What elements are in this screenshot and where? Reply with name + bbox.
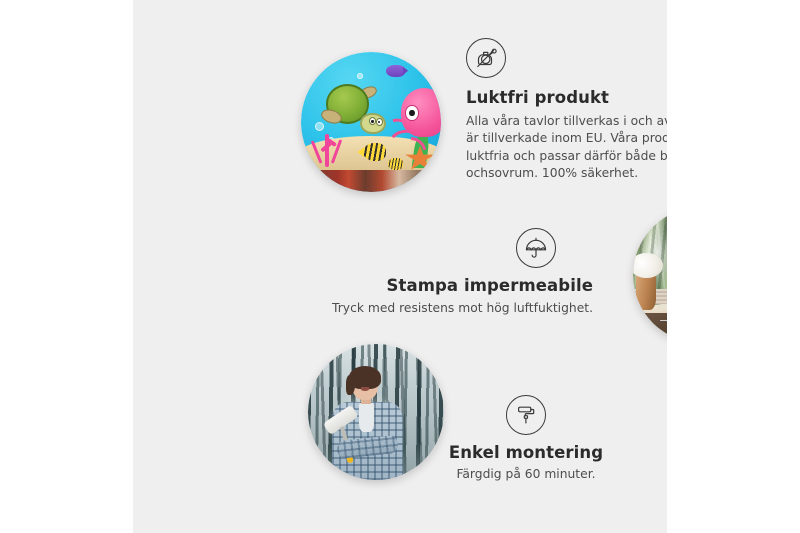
woman-figure [327, 368, 411, 480]
flowers-icon [633, 253, 663, 277]
octopus-icon [388, 88, 441, 155]
page-root: Luktfri produkt Alla våra tavlor tillver… [0, 0, 800, 533]
feature-description: Alla våra tavlor tillverkas i och av pro… [466, 113, 667, 183]
fish-icon [363, 143, 387, 161]
feature-title: Stampa impermeabile [293, 276, 593, 295]
product-image-bathroom-leaves[interactable] [633, 207, 667, 343]
fish-icon [386, 65, 404, 78]
no-fragrance-icon [466, 38, 506, 78]
ocean-scene [301, 52, 441, 192]
feature-title: Luktfri produkt [466, 88, 667, 107]
fish-icon [388, 158, 403, 169]
feature-easy-mounting: Enkel montering Färgdig på 60 minuter. [416, 395, 636, 483]
vase-icon [636, 272, 656, 310]
feature-description: Färgdig på 60 minuter. [416, 466, 636, 483]
content-panel: Luktfri produkt Alla våra tavlor tillver… [133, 0, 667, 533]
ocean-foreground-strip [301, 170, 441, 192]
bathroom-scene [633, 207, 667, 343]
feature-waterproof-print: Stampa impermeabile Tryck med resistens … [293, 228, 593, 317]
umbrella-icon [516, 228, 556, 268]
feature-title: Enkel montering [416, 443, 636, 462]
feature-description: Tryck med resistens mot hög luftfuktighe… [293, 300, 593, 317]
feature-odour-free: Luktfri produkt Alla våra tavlor tillver… [466, 38, 667, 183]
product-image-ocean-cartoon[interactable] [301, 52, 441, 192]
paint-roller-icon [506, 395, 546, 435]
soap-dish-icon [657, 304, 667, 309]
vanity-cabinet [644, 313, 667, 343]
turtle-icon [321, 84, 383, 137]
